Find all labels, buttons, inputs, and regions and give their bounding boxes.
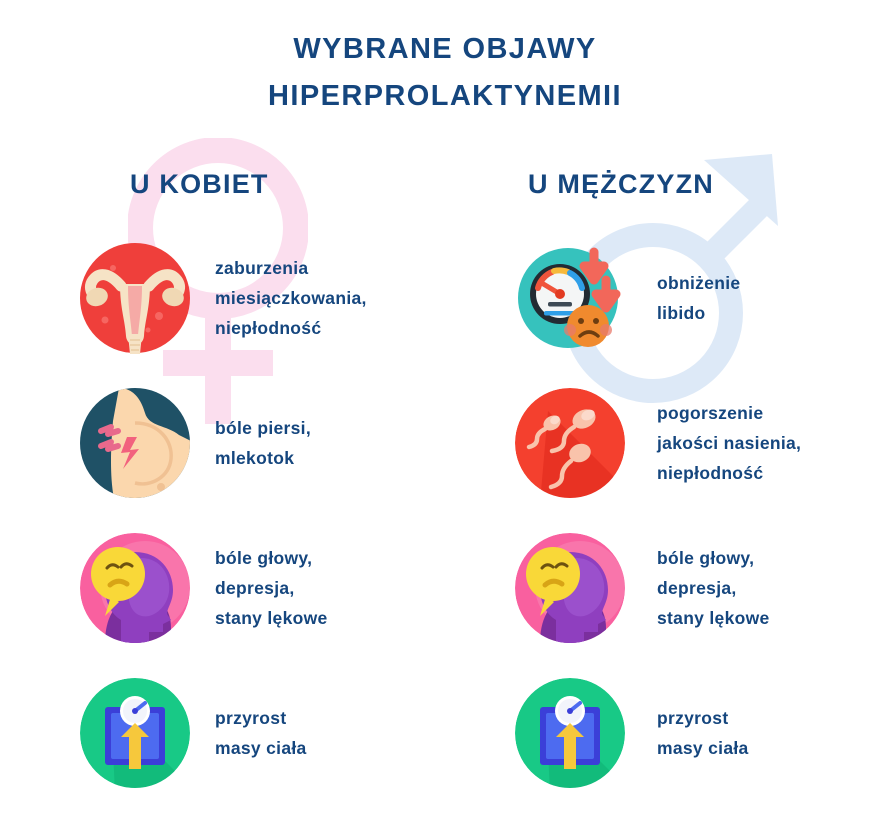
symptom-row: bóle piersi, mlekotok xyxy=(0,374,445,512)
symptom-line: stany lękowe xyxy=(215,603,328,633)
symptom-label: zaburzenia miesiączkowania, niepłodność xyxy=(195,253,367,343)
symptom-row: bóle głowy, depresja, stany lękowe xyxy=(0,512,445,664)
symptom-line: przyrost xyxy=(657,703,749,733)
symptom-line: libido xyxy=(657,298,740,328)
symptom-label: bóle głowy, depresja, stany lękowe xyxy=(195,543,328,633)
column-men: U MĘŻCZYZN xyxy=(445,160,890,802)
symptom-row: pogorszenie jakości nasienia, niepłodnoś… xyxy=(445,374,890,512)
weight-scale-icon xyxy=(510,673,630,793)
symptom-line: depresja, xyxy=(215,573,328,603)
column-women: U KOBIET xyxy=(0,160,445,802)
symptom-row: zaburzenia miesiączkowania, niepłodność xyxy=(0,222,445,374)
symptom-line: przyrost xyxy=(215,703,307,733)
columns-container: U KOBIET xyxy=(0,160,890,802)
symptom-line: jakości nasienia, xyxy=(657,428,801,458)
headache-depression-icon xyxy=(510,528,630,648)
symptom-line: bóle piersi, xyxy=(215,413,311,443)
infographic-canvas: WYBRANE OBJAWY HIPERPROLAKTYNEMII U KOBI… xyxy=(0,0,890,819)
symptom-line: depresja, xyxy=(657,573,770,603)
title-line-1: WYBRANE OBJAWY xyxy=(0,26,890,73)
symptom-line: pogorszenie xyxy=(657,398,801,428)
symptom-line: miesiączkowania, xyxy=(215,283,367,313)
symptom-line: masy ciała xyxy=(657,733,749,763)
symptom-row: bóle głowy, depresja, stany lękowe xyxy=(445,512,890,664)
symptom-label: obniżenie libido xyxy=(630,268,740,328)
symptom-label: bóle piersi, mlekotok xyxy=(195,413,311,473)
symptom-line: mlekotok xyxy=(215,443,311,473)
sperm-quality-icon xyxy=(510,383,630,503)
symptom-line: bóle głowy, xyxy=(215,543,328,573)
symptom-line: stany lękowe xyxy=(657,603,770,633)
symptom-line: niepłodność xyxy=(657,458,801,488)
symptom-list-men: obniżenie libido xyxy=(445,222,890,802)
page-title: WYBRANE OBJAWY HIPERPROLAKTYNEMII xyxy=(0,26,890,120)
symptom-label: przyrost masy ciała xyxy=(630,703,749,763)
symptom-label: przyrost masy ciała xyxy=(195,703,307,763)
symptom-row: przyrost masy ciała xyxy=(0,664,445,802)
weight-scale-icon xyxy=(75,673,195,793)
uterus-icon xyxy=(75,238,195,358)
symptom-list-women: zaburzenia miesiączkowania, niepłodność xyxy=(0,222,445,802)
column-heading-men: U MĘŻCZYZN xyxy=(445,160,890,222)
title-line-2: HIPERPROLAKTYNEMII xyxy=(0,73,890,120)
symptom-label: pogorszenie jakości nasienia, niepłodnoś… xyxy=(630,398,801,488)
symptom-line: zaburzenia xyxy=(215,253,367,283)
breast-pain-icon xyxy=(75,383,195,503)
symptom-line: masy ciała xyxy=(215,733,307,763)
low-libido-gauge-icon xyxy=(510,238,630,358)
symptom-label: bóle głowy, depresja, stany lękowe xyxy=(630,543,770,633)
symptom-line: niepłodność xyxy=(215,313,367,343)
symptom-row: przyrost masy ciała xyxy=(445,664,890,802)
symptom-row: obniżenie libido xyxy=(445,222,890,374)
column-heading-women: U KOBIET xyxy=(0,160,445,222)
symptom-line: obniżenie xyxy=(657,268,740,298)
headache-depression-icon xyxy=(75,528,195,648)
symptom-line: bóle głowy, xyxy=(657,543,770,573)
